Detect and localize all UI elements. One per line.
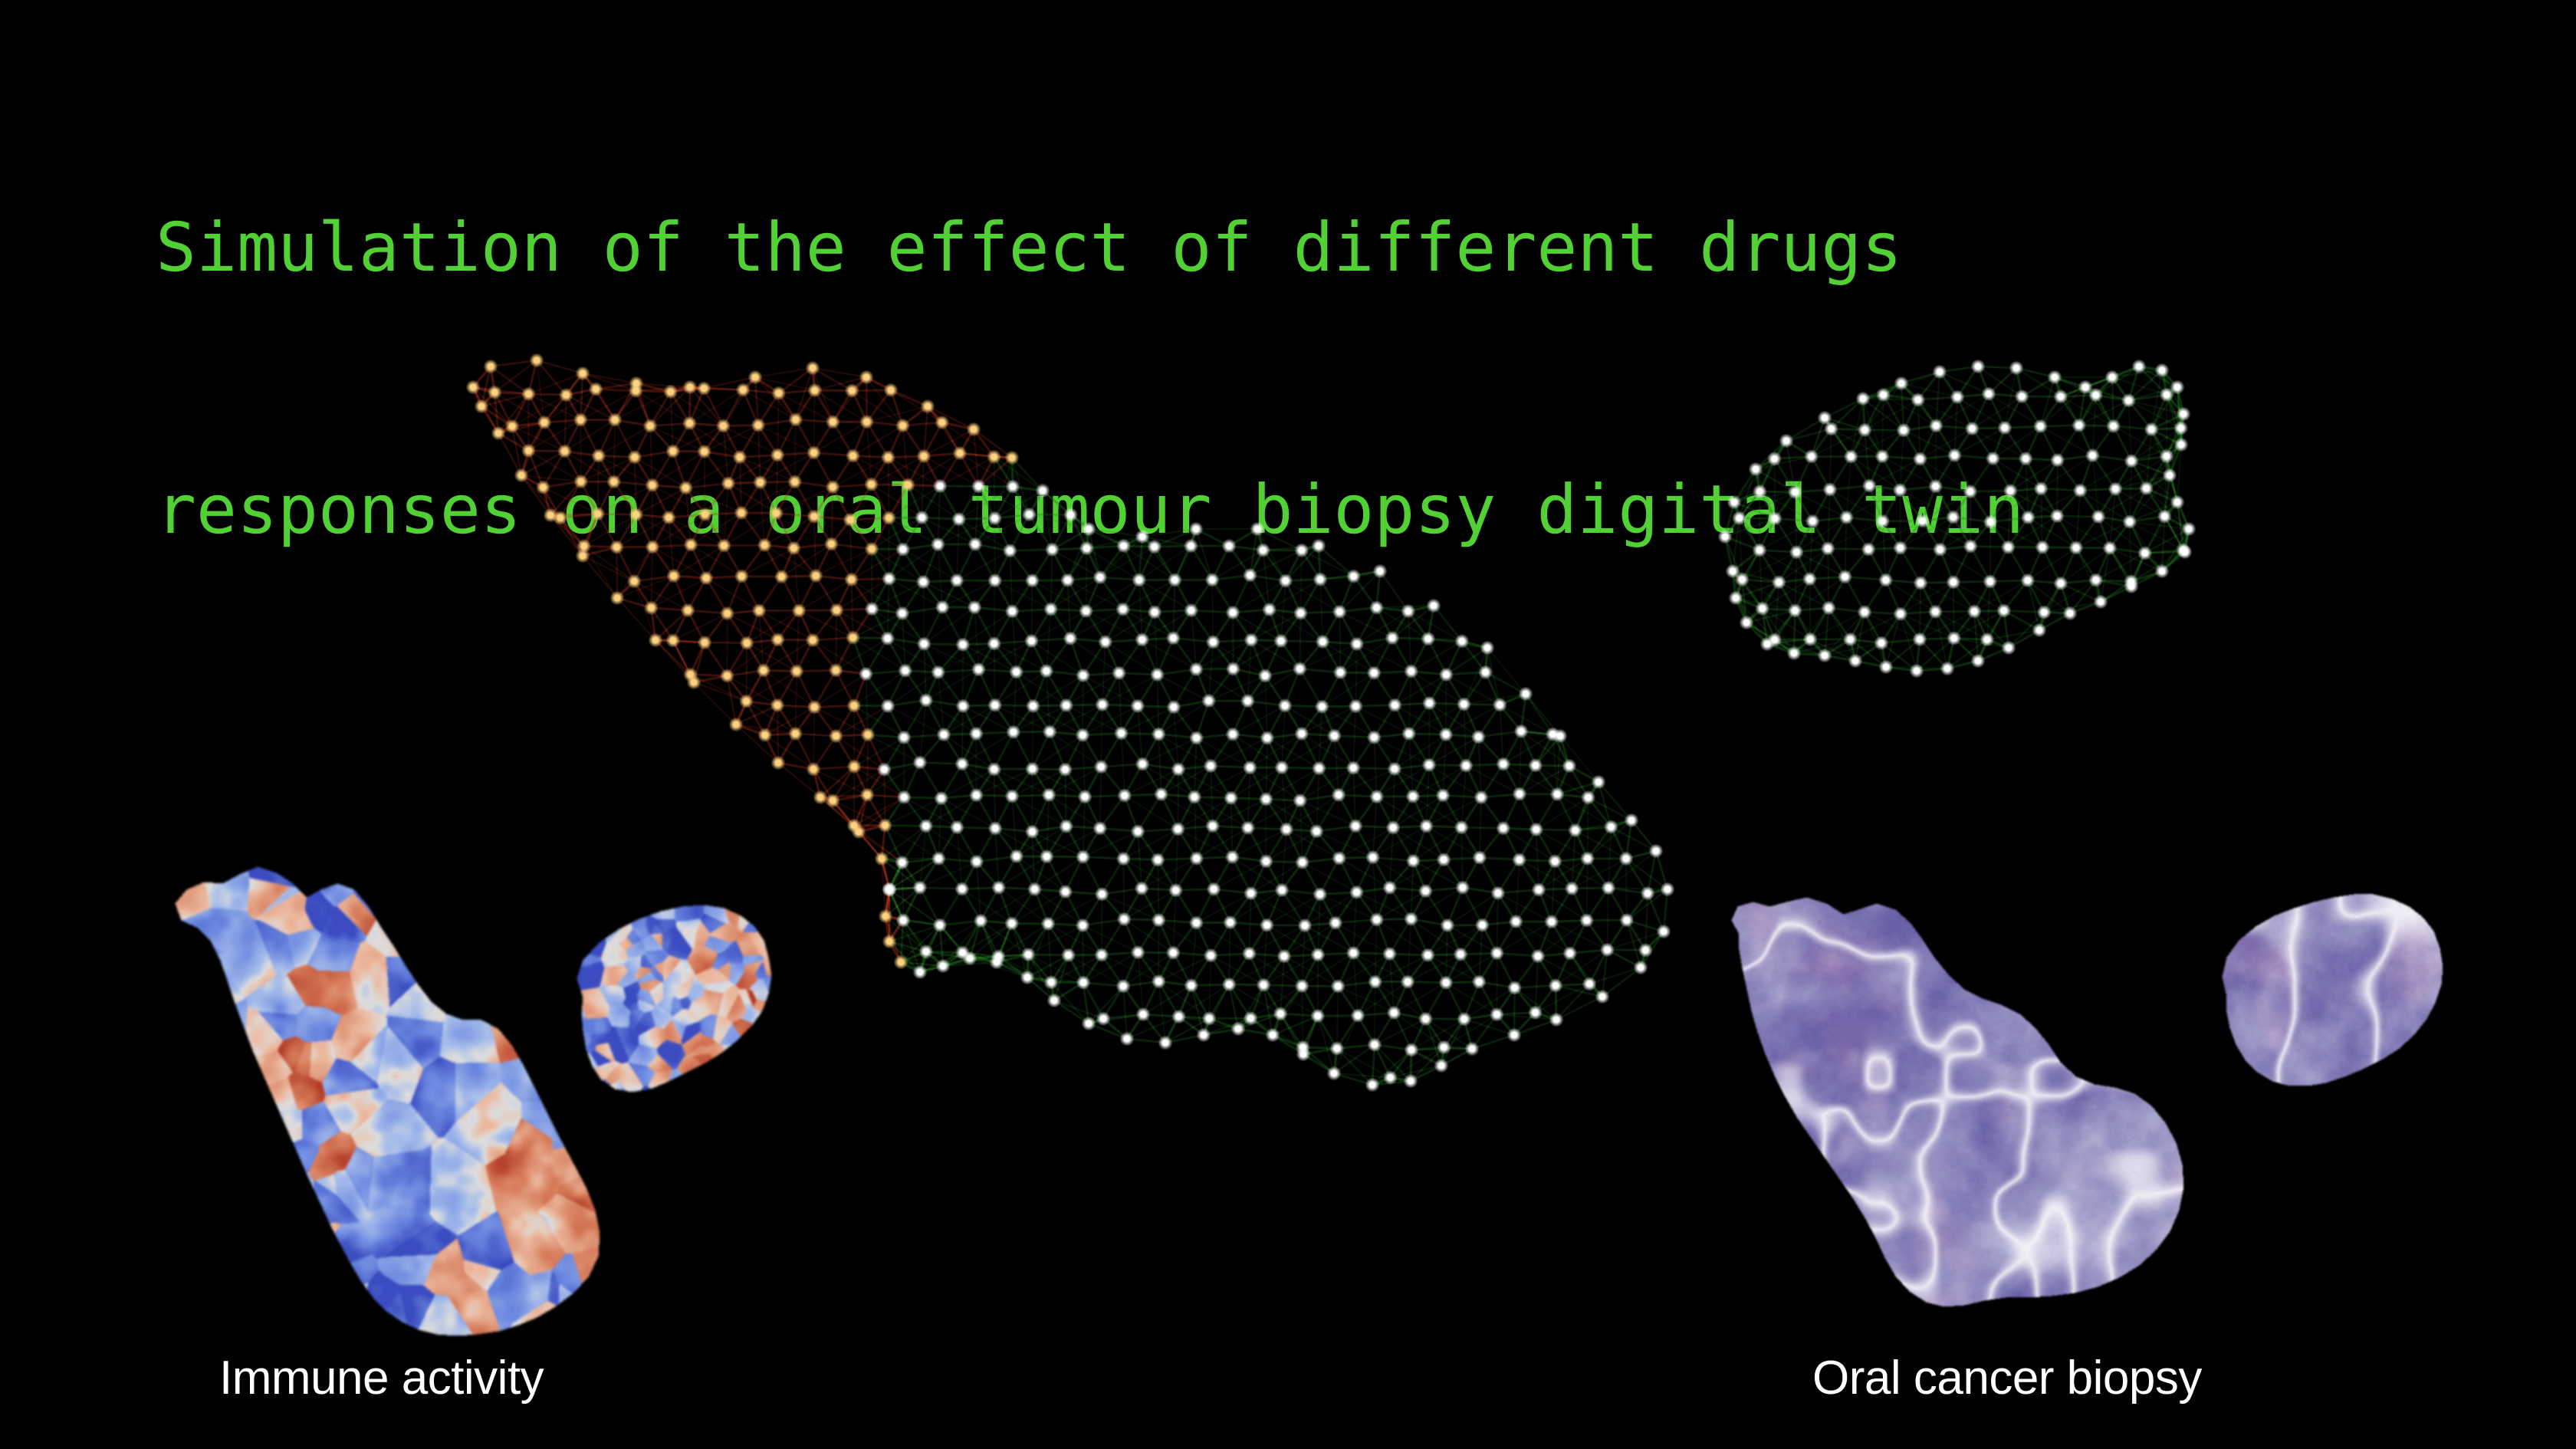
page-title-line-1: Simulation of the effect of different dr… [156, 204, 2379, 291]
page-title: Simulation of the effect of different dr… [156, 29, 2379, 728]
caption-immune-activity: Immune activity [219, 1351, 544, 1405]
caption-oral-cancer-biopsy: Oral cancer biopsy [1812, 1351, 2202, 1405]
simulation-canvas: Simulation of the effect of different dr… [0, 0, 2576, 1449]
page-title-line-2: responses on a oral tumour biopsy digita… [156, 466, 2379, 554]
